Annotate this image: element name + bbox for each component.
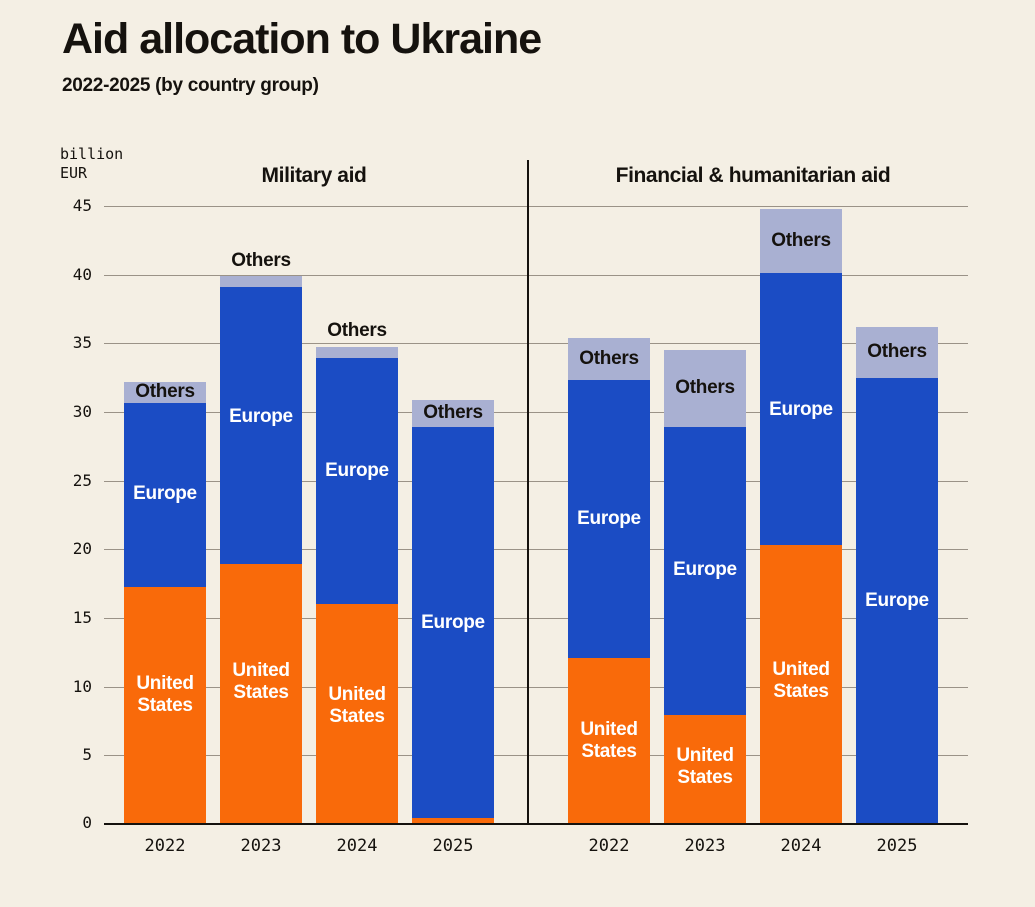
chart-plot-area: billion EUR Military aid Financial & hum… <box>0 0 1035 907</box>
bar-segment-others[interactable] <box>760 209 842 273</box>
x-label-military-2022: 2022 <box>124 836 206 856</box>
y-tick-5: 5 <box>46 745 92 764</box>
y-tick-35: 35 <box>46 333 92 352</box>
gridline-45 <box>104 206 968 207</box>
x-label-financial-2024: 2024 <box>760 836 842 856</box>
bar-segment-others[interactable] <box>412 400 494 427</box>
bar-segment-europe[interactable] <box>760 273 842 545</box>
bar-military-2023[interactable]: Europe United States <box>220 276 302 823</box>
bar-segment-united-states[interactable] <box>664 715 746 823</box>
bar-segment-others[interactable] <box>220 276 302 287</box>
bar-segment-united-states[interactable] <box>124 587 206 823</box>
x-label-financial-2022: 2022 <box>568 836 650 856</box>
bar-segment-united-states[interactable] <box>568 658 650 823</box>
bar-segment-united-states[interactable] <box>760 545 842 823</box>
bar-segment-europe[interactable] <box>316 358 398 604</box>
x-label-military-2023: 2023 <box>220 836 302 856</box>
y-tick-25: 25 <box>46 471 92 490</box>
bar-segment-europe[interactable] <box>220 287 302 564</box>
bar-segment-others[interactable] <box>568 338 650 380</box>
x-label-financial-2023: 2023 <box>664 836 746 856</box>
bar-segment-europe[interactable] <box>412 427 494 818</box>
y-axis-unit-label: billion EUR <box>60 145 123 183</box>
bar-segment-europe[interactable] <box>664 427 746 715</box>
y-tick-0: 0 <box>46 813 92 832</box>
bar-segment-united-states[interactable] <box>412 818 494 823</box>
bar-segment-europe[interactable] <box>568 380 650 658</box>
bar-segment-europe[interactable] <box>856 378 938 823</box>
bar-military-2025[interactable]: Others Europe <box>412 400 494 823</box>
bar-label-others-outside-military-2024: Others <box>316 320 398 342</box>
bar-segment-others[interactable] <box>664 350 746 427</box>
bar-financial-2022[interactable]: Others Europe United States <box>568 338 650 823</box>
bar-label-others-outside-military-2023: Others <box>220 250 302 272</box>
bar-segment-others[interactable] <box>124 382 206 403</box>
panel-title-military: Military aid <box>186 164 442 188</box>
bar-military-2024[interactable]: Europe United States <box>316 347 398 823</box>
bar-segment-others[interactable] <box>856 327 938 378</box>
bar-segment-united-states[interactable] <box>316 604 398 823</box>
y-tick-45: 45 <box>46 196 92 215</box>
y-tick-20: 20 <box>46 539 92 558</box>
panel-title-financial: Financial & humanitarian aid <box>575 164 931 188</box>
y-tick-40: 40 <box>46 265 92 284</box>
bar-segment-others[interactable] <box>316 347 398 358</box>
x-label-financial-2025: 2025 <box>856 836 938 856</box>
x-label-military-2024: 2024 <box>316 836 398 856</box>
panel-divider <box>527 160 529 825</box>
gridline-zero <box>104 823 968 825</box>
y-tick-10: 10 <box>46 677 92 696</box>
bar-military-2022[interactable]: Others Europe United States <box>124 382 206 823</box>
bar-financial-2024[interactable]: Others Europe United States <box>760 209 842 823</box>
x-label-military-2025: 2025 <box>412 836 494 856</box>
bar-financial-2025[interactable]: Others Europe <box>856 327 938 823</box>
bar-financial-2023[interactable]: Others Europe United States <box>664 350 746 823</box>
y-tick-30: 30 <box>46 402 92 421</box>
bar-segment-europe[interactable] <box>124 403 206 587</box>
bar-segment-united-states[interactable] <box>220 564 302 823</box>
y-tick-15: 15 <box>46 608 92 627</box>
